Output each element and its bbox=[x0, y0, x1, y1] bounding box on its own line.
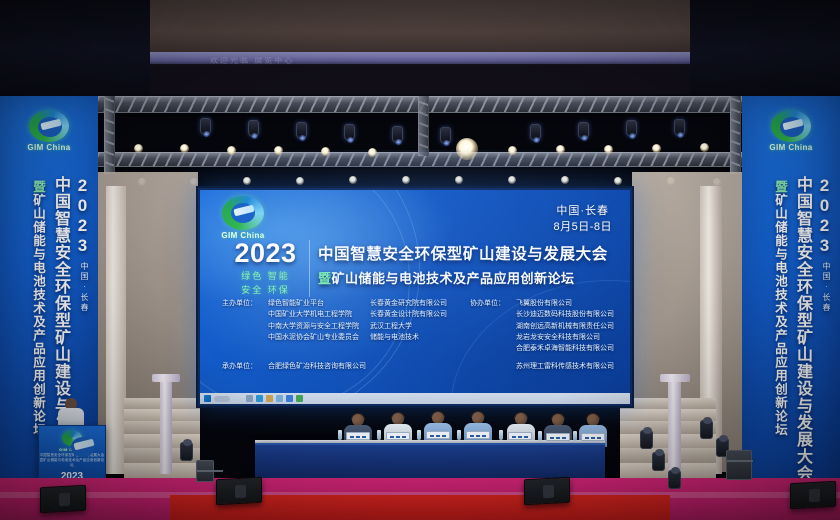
floor-moving-light bbox=[668, 470, 681, 489]
moving-head-light bbox=[200, 118, 211, 135]
floor-moving-light bbox=[640, 430, 653, 449]
gim-china-logo-icon bbox=[222, 196, 264, 230]
stage-lamp bbox=[180, 144, 189, 153]
subtitle-text: 矿山储能与电池技术及产品应用创新论坛 bbox=[332, 271, 575, 286]
spacer bbox=[222, 321, 268, 332]
water-bottle bbox=[457, 430, 461, 440]
stage-lamp bbox=[349, 176, 357, 184]
coorganizer-item: 飞翼股份有限公司 bbox=[516, 298, 572, 309]
organizer-row: 主办单位： 绿色智能矿业平台 长春黄金研究院有限公司 协办单位： 飞翼股份有限公… bbox=[222, 298, 622, 309]
screen-title-block: 中国智慧安全环保型矿山建设与发展大会 暨矿山储能与电池技术及产品应用创新论坛 bbox=[318, 242, 620, 287]
water-bottle bbox=[573, 431, 577, 441]
event-slogan: 绿色 智能 安全 环保 bbox=[228, 270, 303, 297]
stage-lamp bbox=[604, 145, 613, 154]
organizer-row: 中国水泥协会矿山专业委员会 储能与电池技术 龙岩龙安安全科技有限公司 bbox=[222, 332, 622, 343]
road-case bbox=[726, 450, 752, 480]
floor-moving-light bbox=[652, 452, 665, 471]
moving-head-light bbox=[530, 124, 541, 141]
pillar-left bbox=[106, 186, 126, 474]
coorganizer-item: 长沙迪迈数码科技股份有限公司 bbox=[516, 309, 614, 320]
stage-lamp bbox=[455, 176, 463, 184]
name-card bbox=[346, 432, 370, 440]
organizer-row: 中国矿业大学机电工程学院 长春黄金设计院有限公司 长沙迪迈数码科技股份有限公司 bbox=[222, 309, 622, 320]
gim-china-logo-icon bbox=[29, 110, 69, 142]
host-col2-item: 长春黄金研究院有限公司 bbox=[370, 298, 470, 309]
organizer-row: 中南大学资源与安全工程学院 武汉工程大学 湖南创远高新机械有限责任公司 bbox=[222, 321, 622, 332]
stage-monitor-speaker bbox=[40, 485, 86, 513]
stage-lamp bbox=[508, 176, 516, 184]
spacer bbox=[470, 332, 516, 343]
balustrade-right bbox=[668, 378, 681, 478]
gim-china-logo-icon bbox=[62, 430, 82, 446]
mail-icon[interactable] bbox=[276, 395, 283, 402]
stage-monitor-speaker bbox=[790, 481, 836, 509]
event-dates: 8月5日-8日 bbox=[553, 220, 612, 236]
host-col1-item: 中南大学资源与安全工程学院 bbox=[268, 321, 370, 332]
screen-logo: GIM China bbox=[212, 196, 274, 244]
banner-location: 中国·长春 bbox=[79, 262, 90, 313]
water-bottle bbox=[417, 430, 421, 440]
explorer-icon[interactable] bbox=[246, 395, 253, 402]
slogan-line-1: 绿色 智能 bbox=[228, 270, 303, 284]
slogan-line-2: 安全 环保 bbox=[228, 284, 303, 298]
road-case bbox=[196, 460, 214, 482]
edge-icon[interactable] bbox=[256, 395, 263, 402]
stage-lamp bbox=[243, 177, 251, 185]
stage-lamp bbox=[296, 177, 304, 185]
banner-sub-text: 矿山储能与电池技术及产品应用创新论坛 bbox=[773, 194, 787, 437]
spacer bbox=[470, 343, 516, 354]
screen-event-meta: 中国·长春 8月5日-8日 bbox=[553, 204, 612, 236]
coorganizer-item: 湖南创远高新机械有限责任公司 bbox=[516, 321, 614, 332]
stage-lamp bbox=[274, 146, 283, 155]
start-icon[interactable] bbox=[204, 395, 211, 402]
event-location: 中国·长春 bbox=[553, 204, 612, 220]
podium-logo: GIM China bbox=[59, 430, 85, 452]
banner-right-text: 2023 中国·长春 中国智慧安全环保型矿山建设与发展大会 暨矿山储能与电池技术… bbox=[742, 174, 840, 496]
stage-lamp bbox=[402, 176, 410, 184]
name-card bbox=[426, 431, 450, 439]
water-bottle bbox=[338, 430, 342, 440]
banner-subtitle: 暨矿山储能与电池技术及产品应用创新论坛 bbox=[29, 180, 48, 437]
moving-head-light bbox=[248, 120, 259, 137]
banner-right-logo: GIM China bbox=[762, 110, 820, 152]
banner-sub-amp: 暨 bbox=[31, 180, 45, 194]
name-card bbox=[386, 432, 410, 440]
upper-wall bbox=[150, 0, 690, 58]
water-bottle bbox=[377, 430, 381, 440]
spacer bbox=[470, 361, 516, 372]
moving-head-light bbox=[674, 119, 685, 136]
coorganizer-item: 合肥泰禾卓海智能科技有限公司 bbox=[516, 343, 614, 354]
moving-head-light bbox=[626, 120, 637, 137]
stage-monitor-speaker bbox=[216, 477, 262, 505]
host-col1-item: 中国水泥协会矿山专业委员会 bbox=[268, 332, 370, 343]
moving-head-light bbox=[296, 122, 307, 139]
name-card bbox=[546, 433, 570, 441]
floor-moving-light bbox=[700, 420, 713, 439]
spacer bbox=[470, 321, 516, 332]
floor-moving-light bbox=[180, 442, 193, 461]
search-box[interactable] bbox=[214, 396, 230, 402]
stage-lamp bbox=[134, 144, 143, 153]
event-year: 2023 bbox=[228, 240, 303, 267]
spacer bbox=[222, 332, 268, 343]
host-label: 主办单位： bbox=[222, 298, 268, 309]
moving-head-light bbox=[344, 124, 355, 141]
banner-sub-amp: 暨 bbox=[773, 180, 787, 194]
banner-left-logo: GIM China bbox=[20, 110, 78, 152]
stage-lamp bbox=[561, 176, 569, 184]
spacer bbox=[268, 343, 370, 354]
water-bottle bbox=[499, 430, 503, 440]
spacer bbox=[222, 343, 268, 354]
banner-subtitle: 暨矿山储能与电池技术及产品应用创新论坛 bbox=[771, 180, 790, 437]
banner-title: 中国智慧安全环保型矿山建设与发展大会 bbox=[790, 176, 814, 482]
coorganizer-item: 龙岩龙安安全科技有限公司 bbox=[516, 332, 600, 343]
undertaker-value: 合肥绿色矿冶科技咨询有限公司 bbox=[268, 361, 470, 372]
truss-vertical-right bbox=[730, 96, 741, 174]
spacer bbox=[222, 309, 268, 320]
stage-lamp bbox=[700, 143, 709, 152]
banner-year: 2023 bbox=[814, 176, 834, 256]
host-col1-item: 中国矿业大学机电工程学院 bbox=[268, 309, 370, 320]
balustrade-left bbox=[160, 378, 172, 474]
logo-text: GIM China bbox=[20, 143, 78, 152]
stage-lamp bbox=[227, 146, 236, 155]
spacer bbox=[370, 343, 470, 354]
organizers-block: 主办单位： 绿色智能矿业平台 长春黄金研究院有限公司 协办单位： 飞翼股份有限公… bbox=[222, 298, 622, 372]
folder-icon[interactable] bbox=[266, 395, 273, 402]
truss-vertical-center bbox=[418, 96, 429, 156]
conference-title: 中国智慧安全环保型矿山建设与发展大会 bbox=[318, 242, 620, 264]
water-bottle bbox=[538, 431, 542, 441]
windows-taskbar[interactable] bbox=[200, 393, 630, 404]
coorganizer-item: 苏州理工雷科传感技术有限公司 bbox=[516, 361, 614, 372]
name-card bbox=[508, 432, 532, 440]
host-col2-item: 长春黄金设计院有限公司 bbox=[370, 309, 470, 320]
banner-year: 2023 bbox=[72, 176, 92, 256]
stage-lamp bbox=[556, 145, 565, 154]
stage-lamp-bright bbox=[456, 138, 478, 160]
undertaker-label: 承办单位： bbox=[222, 361, 268, 372]
stage-lamp bbox=[614, 177, 622, 185]
stage-lamp bbox=[321, 147, 330, 156]
subtitle-amp: 暨 bbox=[318, 271, 332, 286]
balustrade-left-cap bbox=[152, 374, 180, 382]
host-col2-item: 储能与电池技术 bbox=[370, 332, 470, 343]
balustrade-right-cap bbox=[660, 374, 690, 382]
moving-head-light bbox=[578, 122, 589, 139]
moving-head-light bbox=[392, 126, 403, 143]
forum-subtitle: 暨矿山储能与电池技术及产品应用创新论坛 bbox=[318, 268, 620, 287]
gim-china-logo-icon bbox=[771, 110, 811, 142]
undertaker-row: 承办单位： 合肥绿色矿冶科技咨询有限公司 苏州理工雷科传感技术有限公司 bbox=[222, 361, 622, 372]
truss-vertical-left bbox=[104, 96, 115, 174]
stage-scene: 欢迎光临 展览中心 bbox=[0, 0, 840, 520]
led-main-screen: GIM China 中国·长春 8月5日-8日 2023 绿色 智能 安全 环保… bbox=[196, 186, 634, 408]
banner-right: GIM China 2023 中国·长春 中国智慧安全环保型矿山建设与发展大会 … bbox=[742, 96, 840, 500]
app-icon[interactable] bbox=[286, 395, 293, 402]
logo-text: GIM China bbox=[762, 143, 820, 152]
spacer bbox=[470, 309, 516, 320]
host-col1-item: 绿色智能矿业平台 bbox=[268, 298, 370, 309]
stage-lamp bbox=[368, 148, 377, 157]
stage-lamp bbox=[508, 146, 517, 155]
screen-year-block: 2023 绿色 智能 安全 环保 bbox=[228, 240, 310, 297]
name-card bbox=[581, 433, 605, 441]
host-col2-item: 武汉工程大学 bbox=[370, 321, 470, 332]
led-screen-content: GIM China 中国·长春 8月5日-8日 2023 绿色 智能 安全 环保… bbox=[200, 190, 630, 404]
banner-location: 中国·长春 bbox=[821, 262, 832, 313]
name-card bbox=[466, 431, 490, 439]
coorganizer-label: 协办单位： bbox=[470, 298, 516, 309]
moving-head-light bbox=[440, 127, 451, 144]
banner-sub-text: 矿山储能与电池技术及产品应用创新论坛 bbox=[31, 194, 45, 437]
podium-title-line-2: 暨矿山储能与电池技术及产品应用创新论坛 bbox=[39, 458, 105, 468]
organizer-row: 合肥泰禾卓海智能科技有限公司 bbox=[222, 343, 622, 354]
stage-lamp bbox=[652, 144, 661, 153]
media-icon[interactable] bbox=[296, 395, 303, 402]
stage-monitor-speaker bbox=[524, 477, 570, 505]
upper-shadow bbox=[150, 64, 690, 94]
